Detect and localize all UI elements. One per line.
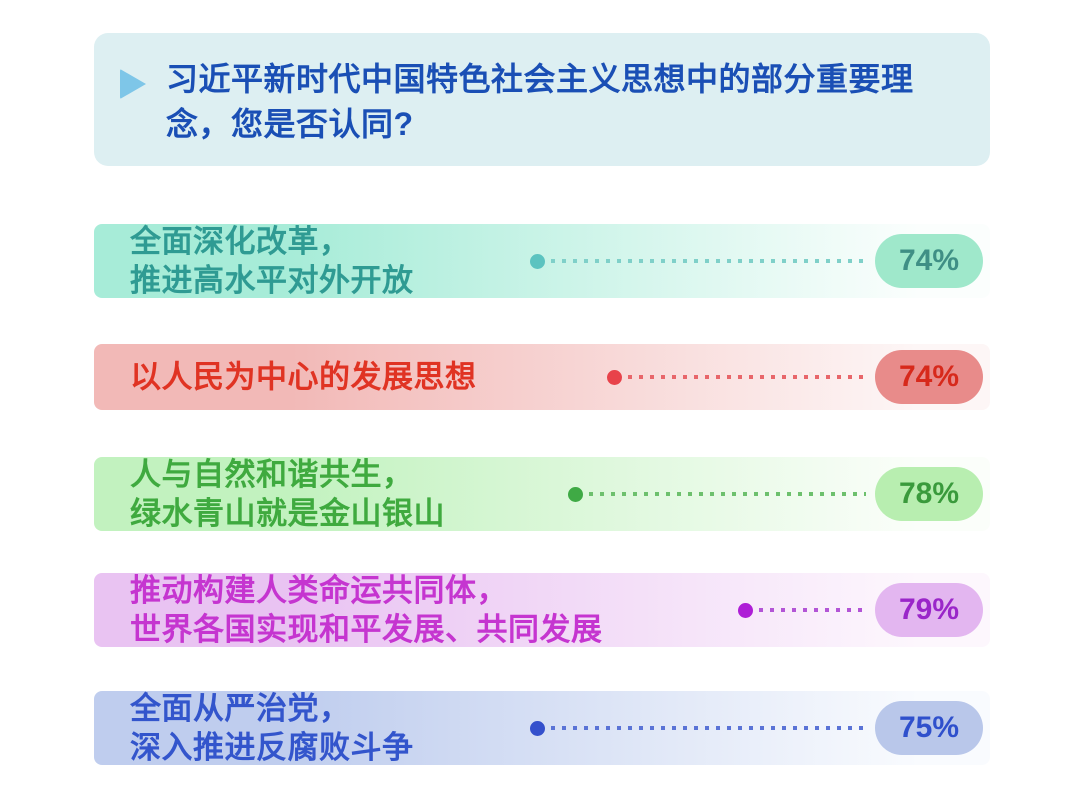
bar-row: 全面深化改革， 推进高水平对外开放74% (94, 224, 990, 298)
connector-line (530, 253, 868, 269)
connector-line (568, 486, 868, 502)
connector-line (738, 602, 868, 618)
marker-dot (530, 721, 545, 736)
dotted-leader (551, 259, 866, 263)
bar-label: 以人民为中心的发展思想 (130, 357, 477, 396)
bar-row: 全面从严治党， 深入推进反腐败斗争75% (94, 691, 990, 765)
dotted-leader (628, 375, 866, 379)
connector-line (607, 369, 868, 385)
percentage-badge: 79% (875, 583, 983, 637)
bar-row: 推动构建人类命运共同体， 世界各国实现和平发展、共同发展79% (94, 573, 990, 647)
percentage-badge: 75% (875, 701, 983, 755)
dotted-leader (551, 726, 866, 730)
bar-rows-list: 全面深化改革， 推进高水平对外开放74%以人民为中心的发展思想74%人与自然和谐… (0, 0, 1080, 812)
dotted-leader (589, 492, 866, 496)
bar-row: 以人民为中心的发展思想74% (94, 344, 990, 410)
connector-line (530, 720, 868, 736)
dotted-leader (759, 608, 866, 612)
infographic-page: 习近平新时代中国特色社会主义思想中的部分重要理念，您是否认同? 全面深化改革， … (0, 0, 1080, 812)
bar-label: 全面从严治党， 深入推进反腐败斗争 (130, 689, 414, 767)
percentage-badge: 74% (875, 350, 983, 404)
marker-dot (607, 370, 622, 385)
bar-label: 人与自然和谐共生， 绿水青山就是金山银山 (130, 455, 445, 533)
marker-dot (530, 254, 545, 269)
bar-label: 推动构建人类命运共同体， 世界各国实现和平发展、共同发展 (130, 571, 603, 649)
bar-row: 人与自然和谐共生， 绿水青山就是金山银山78% (94, 457, 990, 531)
marker-dot (568, 487, 583, 502)
marker-dot (738, 603, 753, 618)
percentage-badge: 74% (875, 234, 983, 288)
percentage-badge: 78% (875, 467, 983, 521)
bar-label: 全面深化改革， 推进高水平对外开放 (130, 222, 414, 300)
